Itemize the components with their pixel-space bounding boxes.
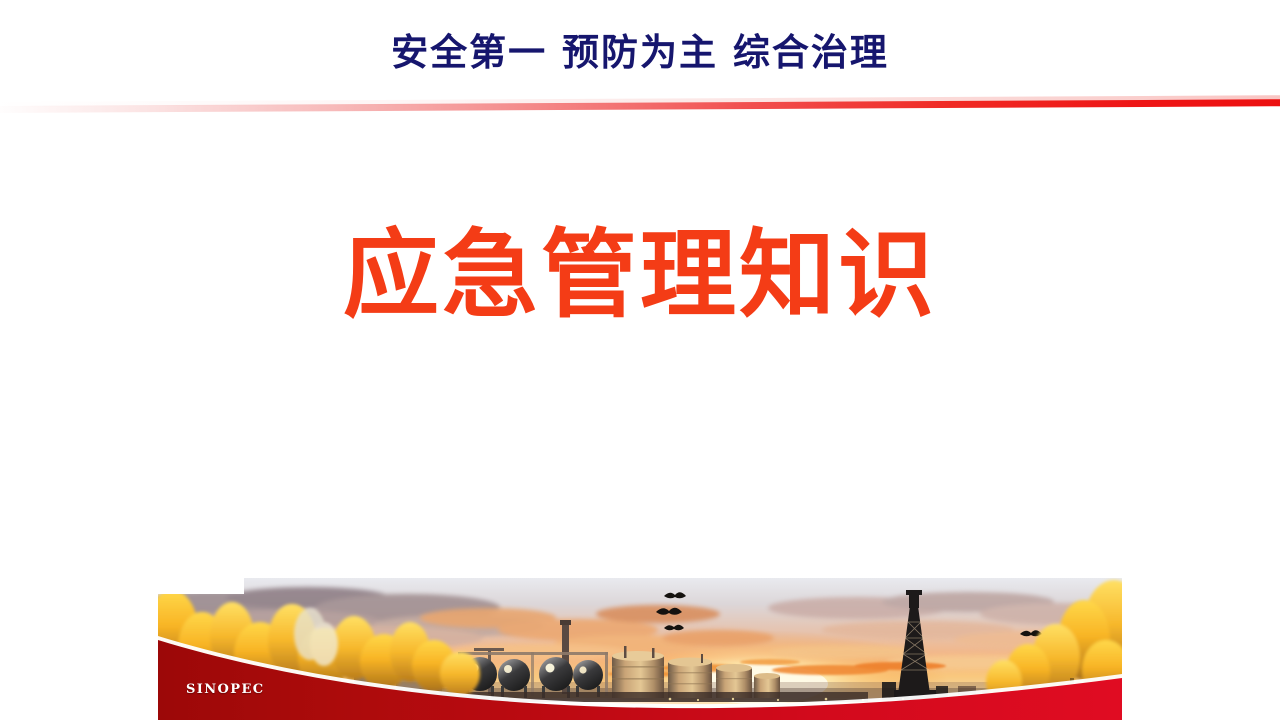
banner-scene [158, 578, 1122, 720]
sinopec-wordmark: SINOPEC [186, 682, 265, 697]
header-slogan: 安全第一 预防为主 综合治理 [0, 30, 1280, 76]
slide-canvas: 安全第一 预防为主 综合治理 应急管理知识 [0, 0, 1280, 720]
page-title: 应急管理知识 [0, 222, 1280, 330]
bottom-banner-image [158, 578, 1122, 720]
divider [0, 98, 1280, 122]
